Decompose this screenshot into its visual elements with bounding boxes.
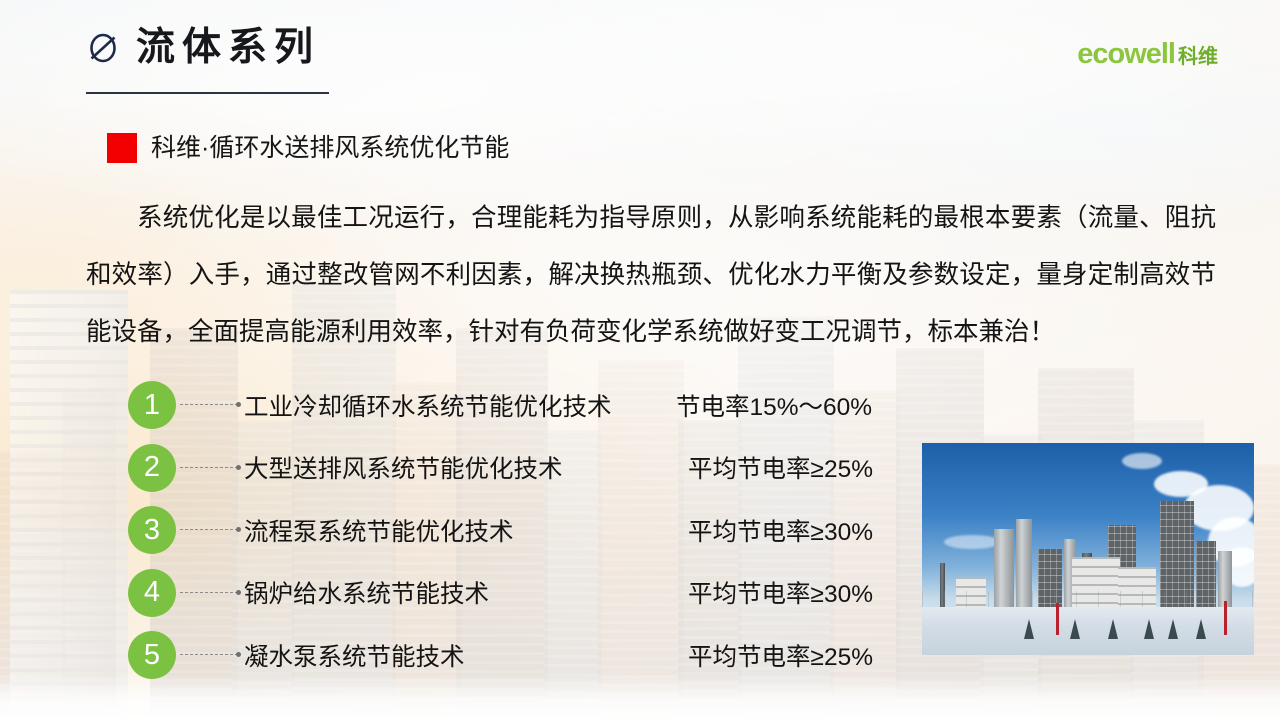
connector-dash-icon — [180, 467, 238, 469]
list-number-badge: 3 — [128, 506, 176, 554]
list-number-badge: 1 — [128, 381, 176, 429]
header-underline — [86, 92, 329, 94]
body-paragraph: 系统优化是以最佳工况运行，合理能耗为指导原则，从影响系统能耗的最根本要素（流量、… — [86, 190, 1216, 361]
list-item-label: 锅炉给水系统节能技术 — [244, 575, 489, 610]
page-title: 流体系列 — [136, 28, 320, 67]
list-item[interactable]: 4 锅炉给水系统节能技术 平均节电率≥30% — [128, 562, 928, 625]
list-item-label: 凝水泵系统节能技术 — [244, 638, 465, 673]
list-item-value: 平均节电率≥30% — [688, 513, 873, 548]
list-item[interactable]: 1 工业冷却循环水系统节能优化技术 节电率15%～60% — [128, 374, 928, 437]
presentation-slide: 流体系列 ecowell 科维 科维·循环水送排风系统优化节能 系统优化是以最佳… — [0, 0, 1280, 720]
list-item-value: 节电率15%～60% — [676, 388, 872, 423]
list-number-badge: 2 — [128, 444, 176, 492]
list-item-label: 流程泵系统节能优化技术 — [244, 513, 514, 548]
slide-header: 流体系列 — [86, 28, 320, 67]
brand-logo: ecowell 科维 — [1077, 40, 1218, 69]
logo-wordmark: ecowell — [1077, 40, 1175, 69]
list-item[interactable]: 3 流程泵系统节能优化技术 平均节电率≥30% — [128, 499, 928, 562]
slashed-circle-icon — [86, 31, 120, 65]
connector-dash-icon — [180, 592, 238, 594]
industrial-plant-photo — [922, 443, 1254, 655]
connector-dash-icon — [180, 654, 238, 656]
red-square-bullet-icon — [107, 133, 137, 163]
connector-dash-icon — [180, 529, 238, 531]
list-item-label: 大型送排风系统节能优化技术 — [244, 450, 563, 485]
logo-chinese-name: 科维 — [1178, 47, 1218, 67]
list-item-value: 平均节电率≥25% — [688, 638, 873, 673]
list-number-badge: 5 — [128, 631, 176, 679]
section-heading: 科维·循环水送排风系统优化节能 — [107, 133, 509, 163]
technology-list: 1 工业冷却循环水系统节能优化技术 节电率15%～60% 2 大型送排风系统节能… — [128, 374, 928, 687]
list-item-value: 平均节电率≥25% — [688, 450, 873, 485]
list-item[interactable]: 2 大型送排风系统节能优化技术 平均节电率≥25% — [128, 437, 928, 500]
list-item-label: 工业冷却循环水系统节能优化技术 — [244, 388, 612, 423]
connector-dash-icon — [180, 404, 238, 406]
section-heading-label: 科维·循环水送排风系统优化节能 — [151, 136, 509, 161]
list-item-value: 平均节电率≥30% — [688, 575, 873, 610]
list-item[interactable]: 5 凝水泵系统节能技术 平均节电率≥25% — [128, 624, 928, 687]
list-number-badge: 4 — [128, 569, 176, 617]
